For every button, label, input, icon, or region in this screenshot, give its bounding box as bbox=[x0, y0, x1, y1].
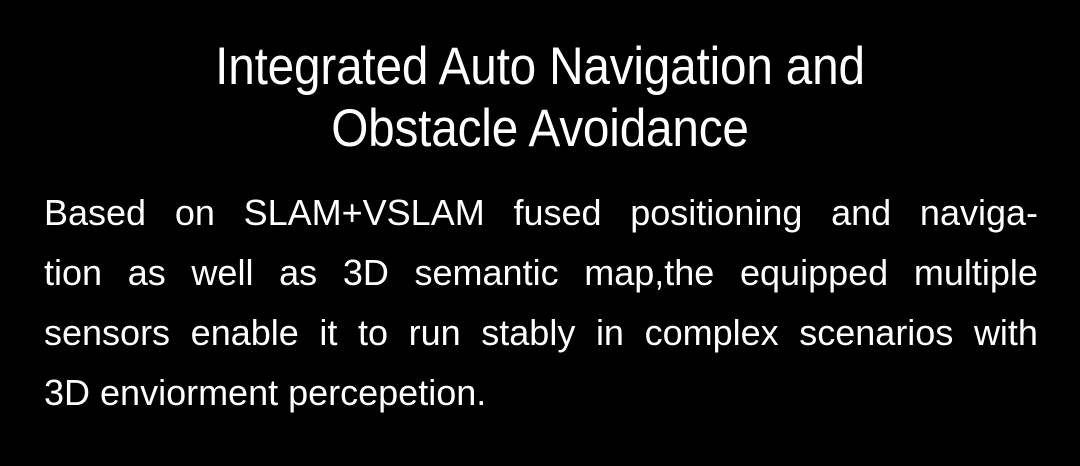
body-word: naviga- bbox=[920, 183, 1038, 243]
body-word: SLAM+VSLAM bbox=[244, 183, 485, 243]
title-line-1: Integrated Auto Navigation and bbox=[54, 36, 1026, 98]
body-word: and bbox=[831, 183, 891, 243]
body-word: semantic bbox=[415, 243, 559, 303]
body-line-1: Based on SLAM+VSLAM fused positioning an… bbox=[44, 183, 1038, 243]
body-line-3: sensors enable it to run stably in compl… bbox=[44, 303, 1038, 363]
body-word: sensors bbox=[44, 303, 170, 363]
title-line-2: Obstacle Avoidance bbox=[54, 98, 1026, 160]
body-word: run bbox=[409, 303, 461, 363]
body-word: well bbox=[191, 243, 253, 303]
body-word: it bbox=[319, 303, 337, 363]
body-word: as bbox=[279, 243, 317, 303]
slide-body: Based on SLAM+VSLAM fused positioning an… bbox=[44, 183, 1038, 423]
body-word: map,the bbox=[584, 243, 714, 303]
body-word: equipped bbox=[740, 243, 888, 303]
body-word: stably bbox=[481, 303, 575, 363]
body-word: in bbox=[596, 303, 624, 363]
body-word: with bbox=[974, 303, 1038, 363]
body-word: fused bbox=[513, 183, 601, 243]
slide-root: Integrated Auto Navigation and Obstacle … bbox=[0, 0, 1080, 466]
body-word: multiple bbox=[914, 243, 1038, 303]
body-word: positioning bbox=[630, 183, 802, 243]
body-line-4: 3D enviorment percepetion. bbox=[44, 363, 1038, 423]
body-word: as bbox=[128, 243, 166, 303]
body-word: 3D bbox=[343, 243, 389, 303]
slide-title: Integrated Auto Navigation and Obstacle … bbox=[0, 36, 1080, 160]
body-word: enable bbox=[191, 303, 299, 363]
body-word: tion bbox=[44, 243, 102, 303]
body-word: scenarios bbox=[799, 303, 953, 363]
body-line-2: tion as well as 3D semantic map,the equi… bbox=[44, 243, 1038, 303]
body-word: complex bbox=[645, 303, 779, 363]
body-word: on bbox=[175, 183, 215, 243]
body-word: Based bbox=[44, 183, 146, 243]
body-word: to bbox=[358, 303, 388, 363]
